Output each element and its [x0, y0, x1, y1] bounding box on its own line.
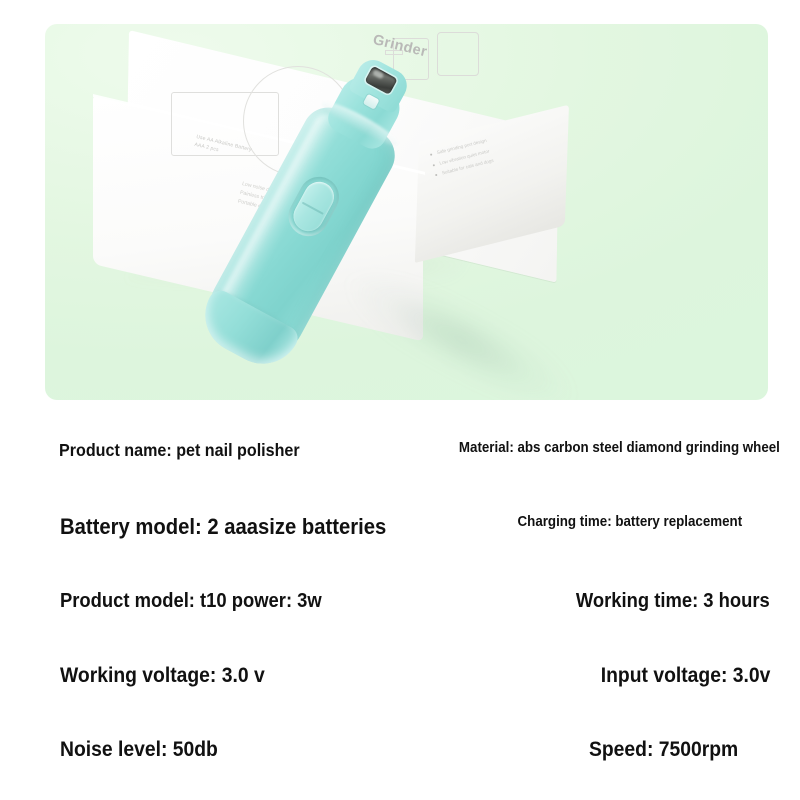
spec-product-name: Product name: pet nail polisher	[59, 440, 300, 461]
nail-grinder-device	[307, 60, 657, 400]
product-photo: Grinder Use AA Alkaline Battery AAA 2 pc…	[45, 24, 768, 400]
spec-working-time: Working time: 3 hours	[576, 590, 770, 613]
spec-product-model: Product model: t10 power: 3w	[60, 590, 322, 613]
spec-input-voltage: Input voltage: 3.0v	[600, 664, 770, 688]
specification-list: Product name: pet nail polisher Material…	[0, 400, 800, 800]
spec-battery-model: Battery model: 2 aaasize batteries	[60, 514, 386, 540]
spec-noise-level: Noise level: 50db	[60, 738, 218, 762]
spec-material: Material: abs carbon steel diamond grind…	[459, 440, 780, 456]
spec-speed: Speed: 7500rpm	[589, 738, 738, 762]
spec-charging-time: Charging time: battery replacement	[517, 514, 742, 530]
spec-working-voltage: Working voltage: 3.0 v	[60, 664, 265, 688]
